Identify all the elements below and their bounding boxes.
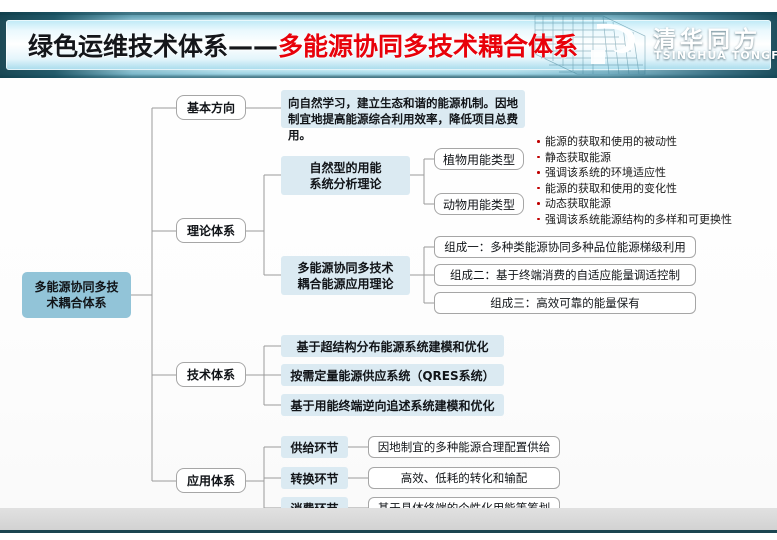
root-label-line2: 术耦合体系 [34,295,118,311]
node-multi-energy-theory[interactable]: 多能源协同多技术 耦合能源应用理论 [281,256,410,295]
node-stage-supply[interactable]: 供给环节 [281,436,348,458]
node-technology-item-3[interactable]: 基于用能终端逆向追述系统建模和优化 [281,394,504,416]
node-technology-item-2[interactable]: 按需定量能源供应系统（QRES系统） [281,364,504,386]
footer-margin [0,533,777,540]
mindmap-canvas: 多能源协同多技 术耦合体系 基本方向 理论体系 技术体系 应用体系 向自然学习，… [0,78,777,508]
node-technology-item-1[interactable]: 基于超结构分布能源系统建模和优化 [281,335,504,357]
node-stage-conversion-detail[interactable]: 高效、低耗的转化和输配 [368,467,560,489]
slide-canvas: 绿色运维技术体系——多能源协同多技术耦合体系 清华同方 TSINGHUA TON… [0,0,777,540]
footer-band [0,508,777,530]
basic-direction-text: 向自然学习，建立生态和谐的能源机制。因地制宜地提高能源综合利用效率，降低项目总费… [281,90,525,128]
mindmap-root-node[interactable]: 多能源协同多技 术耦合体系 [22,272,131,318]
bullet-item: 静态获取能源 [536,150,776,166]
node-composition-1[interactable]: 组成一：多种类能源协同多种品位能源梯级利用 [434,236,696,258]
root-label-line1: 多能源协同多技 [34,279,118,295]
multi-theory-line1: 多能源协同多技术 [297,260,393,276]
bullet-item: 强调该系统能源结构的多样和可更换性 [536,212,776,228]
plant-bullet-list: 能源的获取和使用的被动性 静态获取能源 强调该系统的环境适应性 [536,134,776,181]
page-title-red: 多能源协同多技术耦合体系 [278,32,578,61]
slide-header: 绿色运维技术体系——多能源协同多技术耦合体系 清华同方 TSINGHUA TON… [0,12,777,78]
node-animal-energy-type[interactable]: 动物用能类型 [434,193,524,215]
natural-theory-line2: 系统分析理论 [309,176,381,192]
multi-theory-line2: 耦合能源应用理论 [297,276,393,292]
brand-name-en: TSINGHUA TONGFANG [654,49,777,62]
node-composition-3[interactable]: 组成三：高效可靠的能量保有 [434,292,696,314]
node-natural-use-theory[interactable]: 自然型的用能 系统分析理论 [281,156,410,195]
node-composition-2[interactable]: 组成二：基于终端消费的自适应能量调适控制 [434,264,696,286]
branch-technology-system[interactable]: 技术体系 [176,362,246,387]
natural-theory-line1: 自然型的用能 [309,160,381,176]
tongfang-logo-icon [587,20,649,70]
page-title: 绿色运维技术体系——多能源协同多技术耦合体系 [28,30,578,64]
bullet-item: 动态获取能源 [536,196,776,212]
node-plant-energy-type[interactable]: 植物用能类型 [434,148,524,170]
energy-type-bullets: 能源的获取和使用的被动性 静态获取能源 强调该系统的环境适应性 能源的获取和使用… [536,134,776,228]
bullet-item: 强调该系统的环境适应性 [536,165,776,181]
bullet-item: 能源的获取和使用的变化性 [536,181,776,197]
page-title-black: 绿色运维技术体系—— [28,32,278,61]
node-stage-conversion[interactable]: 转换环节 [281,467,348,489]
branch-theory-system[interactable]: 理论体系 [176,218,246,243]
animal-bullet-list: 能源的获取和使用的变化性 动态获取能源 强调该系统能源结构的多样和可更换性 [536,181,776,228]
branch-basic-direction[interactable]: 基本方向 [176,95,246,120]
brand-logo: 清华同方 TSINGHUA TONGFANG [581,18,771,72]
bullet-item: 能源的获取和使用的被动性 [536,134,776,150]
node-stage-supply-detail[interactable]: 因地制宜的多种能源合理配置供给 [368,436,560,458]
branch-application-system[interactable]: 应用体系 [176,468,246,493]
